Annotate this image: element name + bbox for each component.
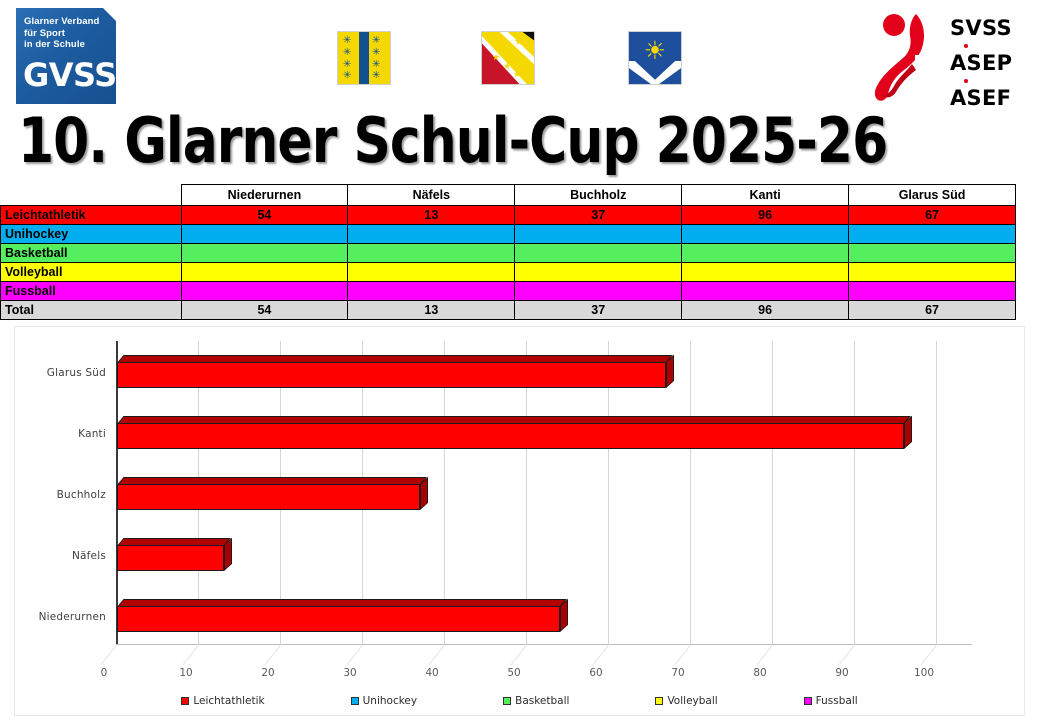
chart-bar-front-face — [117, 362, 666, 388]
row-label-total: Total — [1, 301, 182, 320]
chart-x-tick-label: 50 — [494, 667, 534, 679]
cell-fussball-niederurnen — [181, 282, 348, 301]
row-label-unihockey: Unihockey — [1, 225, 182, 244]
row-label-fussball: Fussball — [1, 282, 182, 301]
cell-total-glarus-sued: 67 — [849, 301, 1016, 320]
chart-bar-side-face — [560, 598, 568, 631]
cell-total-kanti: 96 — [682, 301, 849, 320]
cell-leichtathletik-buchholz: 37 — [515, 206, 682, 225]
cell-total-naefels: 13 — [348, 301, 515, 320]
chart-gridline-foot — [920, 645, 937, 665]
cell-fussball-buchholz — [515, 282, 682, 301]
glarus-flag-wavy-band — [359, 32, 369, 84]
legend-color-swatch — [655, 697, 663, 705]
svss-separator-dot — [964, 44, 968, 48]
score-table-body: Leichtathletik 54 13 37 96 67 Unihockey … — [1, 206, 1016, 320]
chart-bar-front-face — [117, 423, 904, 449]
table-row-total: Total 54 13 37 96 67 — [1, 301, 1016, 320]
cell-leichtathletik-niederurnen: 54 — [181, 206, 348, 225]
column-header-naefels: Näfels — [348, 185, 515, 206]
chart-x-tick-label: 10 — [166, 667, 206, 679]
svss-separator-dot — [964, 79, 968, 83]
row-label-volleyball: Volleyball — [1, 263, 182, 282]
sun-icon: ☀ — [643, 39, 667, 63]
chart-gridline-foot — [264, 645, 281, 665]
gvss-wordmark: GVSS — [23, 58, 117, 92]
chart-bar-side-face — [904, 416, 912, 449]
glarus-flag-star-icon: ✳ — [343, 36, 351, 46]
cell-total-buchholz: 37 — [515, 301, 682, 320]
chart-plot-area: 0102030405060708090100NiederurnenNäfelsB… — [116, 341, 972, 645]
chart-legend-item[interactable]: Fussball — [804, 695, 858, 707]
cell-volleyball-glarus-sued — [849, 263, 1016, 282]
column-header-kanti: Kanti — [682, 185, 849, 206]
chart-legend-item[interactable]: Unihockey — [351, 695, 418, 707]
row-label-leichtathletik: Leichtathletik — [1, 206, 182, 225]
svss-wordmark-line-2: ASEP — [950, 51, 1024, 76]
legend-color-swatch — [503, 697, 511, 705]
chart-gridline — [772, 341, 773, 645]
chart-x-tick-label: 30 — [330, 667, 370, 679]
chart-bar — [117, 477, 420, 503]
score-table: Niederurnen Näfels Buchholz Kanti Glarus… — [0, 184, 1016, 320]
naefels-flag-star-icon: ★ — [492, 54, 500, 63]
gvss-tagline-line-3: in der Schule — [24, 39, 110, 51]
chart-x-tick-label: 80 — [740, 667, 780, 679]
naefels-flag-star-icon: ★ — [513, 71, 521, 80]
chart-bar-front-face — [117, 606, 560, 632]
glarus-flag-star-icon: ✳ — [372, 48, 380, 58]
cell-basketball-buchholz — [515, 244, 682, 263]
chart-bar-side-face — [420, 477, 428, 510]
cell-basketball-kanti — [682, 244, 849, 263]
gvss-tagline: Glarner Verband für Sport in der Schule — [24, 16, 110, 51]
chart-gridline-foot — [838, 645, 855, 665]
chart-legend-item[interactable]: Volleyball — [655, 695, 717, 707]
table-corner-cell — [1, 185, 182, 206]
cell-basketball-niederurnen — [181, 244, 348, 263]
column-header-niederurnen: Niederurnen — [181, 185, 348, 206]
column-header-buchholz: Buchholz — [515, 185, 682, 206]
chart-x-axis — [116, 644, 972, 645]
table-row-unihockey: Unihockey — [1, 225, 1016, 244]
cell-unihockey-niederurnen — [181, 225, 348, 244]
cell-fussball-kanti — [682, 282, 849, 301]
legend-color-swatch — [804, 697, 812, 705]
table-header-row: Niederurnen Näfels Buchholz Kanti Glarus… — [1, 185, 1016, 206]
column-header-glarus-sued: Glarus Süd — [849, 185, 1016, 206]
gvss-tagline-line-1: Glarner Verband — [24, 16, 110, 28]
cell-unihockey-buchholz — [515, 225, 682, 244]
cell-volleyball-naefels — [348, 263, 515, 282]
chart-gridline-foot — [592, 645, 609, 665]
cell-basketball-glarus-sued — [849, 244, 1016, 263]
glarus-flag-star-icon: ✳ — [372, 36, 380, 46]
legend-label: Leichtathletik — [193, 695, 264, 707]
cell-volleyball-kanti — [682, 263, 849, 282]
score-table-header: Niederurnen Näfels Buchholz Kanti Glarus… — [1, 185, 1016, 206]
chart-x-tick-label: 20 — [248, 667, 288, 679]
legend-label: Basketball — [515, 695, 569, 707]
chart-bar-side-face — [666, 355, 674, 388]
chart-gridline-foot — [756, 645, 773, 665]
glarus-flag-star-icon: ✳ — [343, 71, 351, 81]
svss-wordmark-line-1: SVSS — [950, 16, 1024, 41]
table-row-leichtathletik: Leichtathletik 54 13 37 96 67 — [1, 206, 1016, 225]
glarus-flag-star-icon: ✳ — [343, 48, 351, 58]
chart-gridline — [936, 341, 937, 645]
chart-gridline — [854, 341, 855, 645]
chart-x-tick-label: 40 — [412, 667, 452, 679]
cell-leichtathletik-glarus-sued: 67 — [849, 206, 1016, 225]
chart-gridline-foot — [428, 645, 445, 665]
row-label-basketball: Basketball — [1, 244, 182, 263]
table-row-volleyball: Volleyball — [1, 263, 1016, 282]
naefels-flag: ★ ★ ★ ★ — [481, 31, 535, 85]
legend-label: Unihockey — [363, 695, 418, 707]
cell-basketball-naefels — [348, 244, 515, 263]
legend-color-swatch — [351, 697, 359, 705]
chart-category-label: Buchholz — [14, 489, 106, 501]
cell-leichtathletik-naefels: 13 — [348, 206, 515, 225]
chart-gridline-foot — [182, 645, 199, 665]
glarus-flag-star-icon: ✳ — [372, 71, 380, 81]
chart-gridline-foot — [100, 645, 117, 665]
glarus-sued-flag: ☀ — [628, 31, 682, 85]
table-row-basketball: Basketball — [1, 244, 1016, 263]
chart-x-tick-label: 100 — [904, 667, 944, 679]
svss-wordmark: SVSS ASEP ASEF — [950, 16, 1024, 111]
chart-x-tick-label: 0 — [84, 667, 124, 679]
chart-category-label: Kanti — [14, 428, 106, 440]
chart-bar — [117, 538, 224, 564]
chart-gridline-foot — [674, 645, 691, 665]
cell-total-niederurnen: 54 — [181, 301, 348, 320]
chart-legend-item[interactable]: Leichtathletik — [181, 695, 264, 707]
cell-unihockey-naefels — [348, 225, 515, 244]
gvss-logo: Glarner Verband für Sport in der Schule … — [16, 8, 116, 104]
chart-bar — [117, 599, 560, 625]
svss-wordmark-line-3: ASEF — [950, 86, 1024, 111]
cell-volleyball-buchholz — [515, 263, 682, 282]
glarus-flag-star-icon: ✳ — [372, 60, 380, 70]
chart-x-tick-label: 70 — [658, 667, 698, 679]
cell-unihockey-kanti — [682, 225, 849, 244]
legend-label: Volleyball — [667, 695, 717, 707]
results-bar-chart: 0102030405060708090100NiederurnenNäfelsB… — [14, 326, 1025, 716]
chart-bar-side-face — [224, 538, 232, 571]
svss-figure-icon — [872, 12, 944, 104]
chart-category-label: Glarus Süd — [14, 367, 106, 379]
chart-category-label: Niederurnen — [14, 611, 106, 623]
svss-logo: SVSS ASEP ASEF — [872, 10, 1024, 106]
chart-bar-front-face — [117, 484, 420, 510]
chart-bar — [117, 416, 904, 442]
cell-volleyball-niederurnen — [181, 263, 348, 282]
legend-label: Fussball — [816, 695, 858, 707]
chart-gridline-foot — [510, 645, 527, 665]
page-title: 10. Glarner Schul-Cup 2025-26 — [18, 108, 887, 174]
header-logo-band: Glarner Verband für Sport in der Schule … — [0, 0, 1037, 112]
chart-gridline-foot — [346, 645, 363, 665]
cell-fussball-naefels — [348, 282, 515, 301]
chart-bar — [117, 355, 666, 381]
cell-fussball-glarus-sued — [849, 282, 1016, 301]
naefels-flag-star-icon: ★ — [503, 63, 511, 72]
chart-legend-item[interactable]: Basketball — [503, 695, 569, 707]
cell-leichtathletik-kanti: 96 — [682, 206, 849, 225]
table-row-fussball: Fussball — [1, 282, 1016, 301]
chart-gridline — [690, 341, 691, 645]
chart-category-label: Näfels — [14, 550, 106, 562]
chart-bar-front-face — [117, 545, 224, 571]
glarus-canton-flag: ✳ ✳ ✳ ✳ ✳ ✳ ✳ ✳ — [337, 31, 391, 85]
glarus-flag-star-icon: ✳ — [343, 60, 351, 70]
chart-legend: LeichtathletikUnihockeyBasketballVolleyb… — [15, 695, 1024, 707]
naefels-flag-star-icon: ★ — [514, 36, 524, 47]
chart-x-tick-label: 90 — [822, 667, 862, 679]
chart-x-tick-label: 60 — [576, 667, 616, 679]
gvss-tagline-line-2: für Sport — [24, 28, 110, 40]
cell-unihockey-glarus-sued — [849, 225, 1016, 244]
legend-color-swatch — [181, 697, 189, 705]
